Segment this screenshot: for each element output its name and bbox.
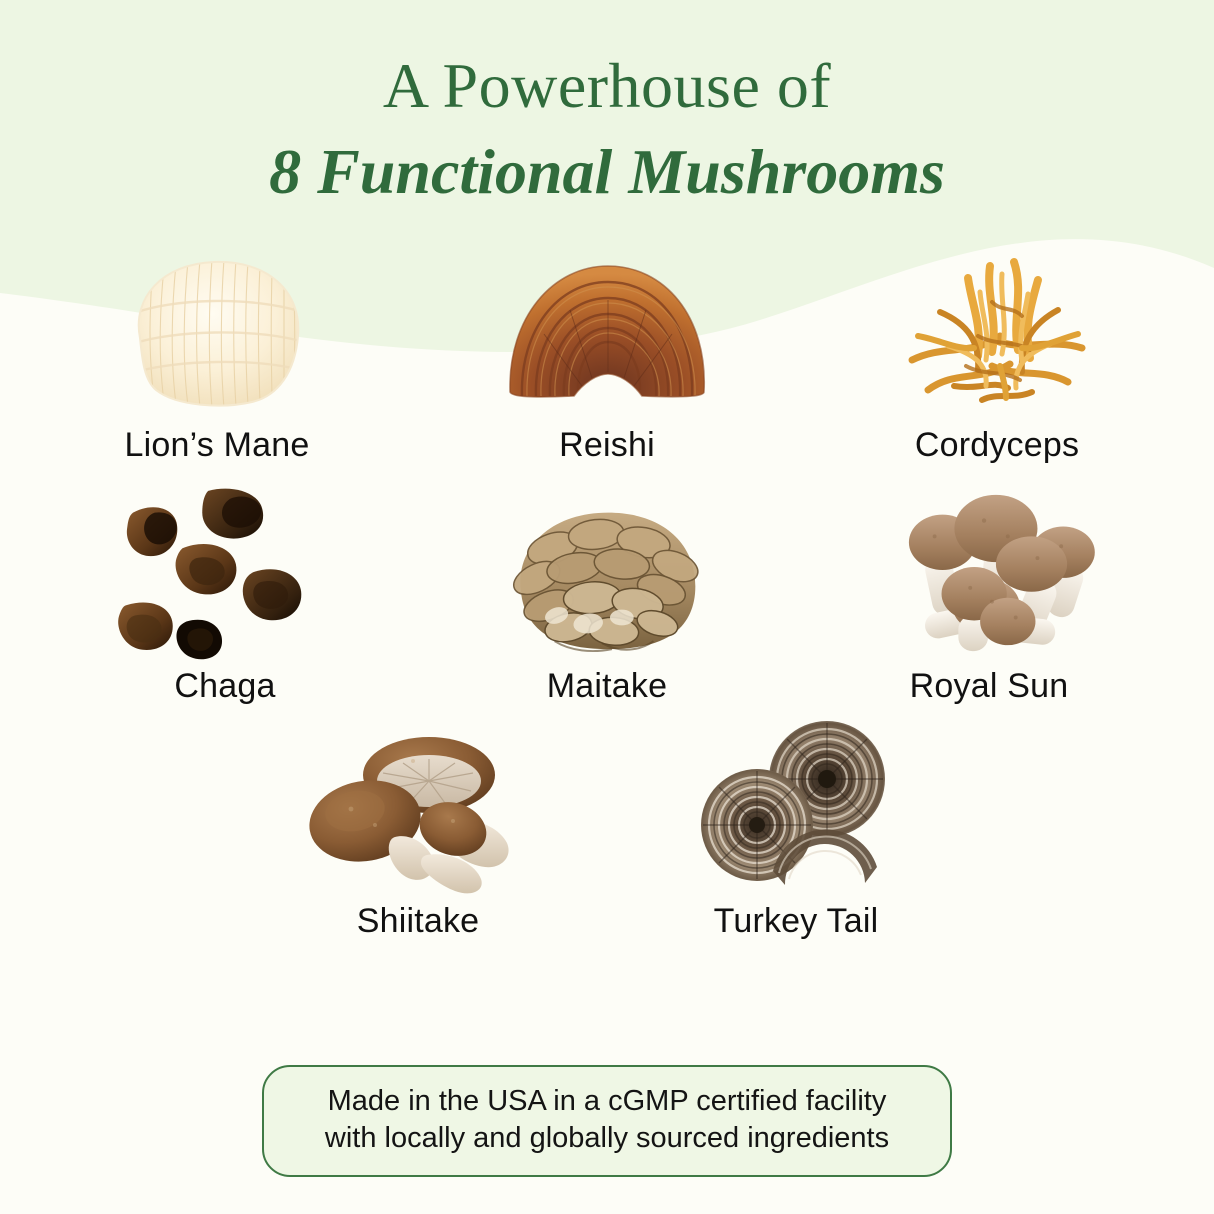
page-title-line-1: A Powerhouse of [0, 54, 1214, 118]
mushroom-label: Cordyceps [915, 426, 1079, 465]
mushroom-label: Reishi [559, 426, 655, 465]
mushroom-grid: Lion’s Mane [0, 240, 1214, 941]
cordyceps-image [882, 240, 1112, 420]
mushroom-label: Maitake [547, 667, 667, 706]
header: A Powerhouse of 8 Functional Mushrooms [0, 0, 1214, 204]
mushroom-card-reishi[interactable]: Reishi [472, 240, 742, 465]
lions-mane-image [102, 240, 332, 420]
mushroom-card-lions-mane[interactable]: Lion’s Mane [82, 240, 352, 465]
chaga-image [110, 483, 340, 661]
badge-line-1: Made in the USA in a cGMP certified faci… [290, 1083, 924, 1120]
page-title-line-2: 8 Functional Mushrooms [0, 140, 1214, 204]
mushroom-card-maitake[interactable]: Maitake [472, 483, 742, 706]
mushroom-row-2: Chaga [0, 483, 1214, 706]
certification-badge: Made in the USA in a cGMP certified faci… [262, 1065, 952, 1177]
mushroom-label: Lion’s Mane [125, 426, 310, 465]
mushroom-row-3: Shiitake [0, 716, 1214, 941]
shiitake-image [303, 716, 533, 898]
mushroom-card-chaga[interactable]: Chaga [90, 483, 360, 706]
mushroom-label: Royal Sun [910, 667, 1069, 706]
mushroom-row-1: Lion’s Mane [0, 240, 1214, 465]
mushroom-card-turkey-tail[interactable]: Turkey Tail [661, 716, 931, 941]
turkey-tail-image [681, 716, 911, 898]
badge-line-2: with locally and globally sourced ingred… [290, 1120, 924, 1157]
mushroom-card-royal-sun[interactable]: Royal Sun [854, 483, 1124, 706]
infographic-page: A Powerhouse of 8 Functional Mushrooms [0, 0, 1214, 1214]
mushroom-label: Turkey Tail [714, 902, 879, 941]
maitake-image [492, 483, 722, 661]
reishi-image [492, 240, 722, 420]
mushroom-label: Chaga [174, 667, 275, 706]
mushroom-label: Shiitake [357, 902, 480, 941]
royal-sun-image [874, 483, 1104, 661]
mushroom-card-shiitake[interactable]: Shiitake [283, 716, 553, 941]
mushroom-card-cordyceps[interactable]: Cordyceps [862, 240, 1132, 465]
